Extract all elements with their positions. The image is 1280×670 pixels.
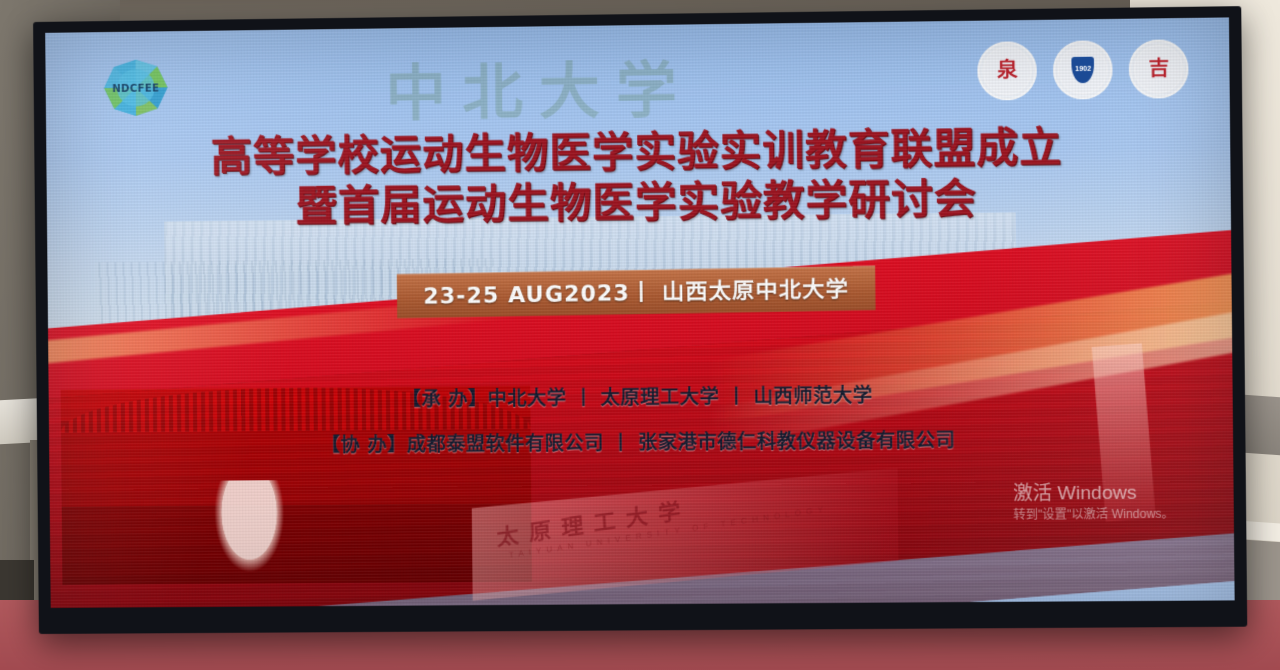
seal-glyph: 1902	[1075, 66, 1091, 73]
seal-glyph: 吉	[1149, 58, 1170, 79]
svg-text:NDCFEE: NDCFEE	[112, 83, 159, 95]
shanxi-normal-university-seal: 吉	[1129, 39, 1189, 98]
ndcfee-logo: NDCFEE	[99, 57, 172, 120]
north-university-of-china-seal: 泉	[977, 41, 1037, 100]
taiyuan-university-of-technology-seal: 1902	[1053, 40, 1113, 99]
conference-hall-photo: 中北大学 太原理工大学 TAIYUAN UNIVERSITY OF TECHNO…	[0, 0, 1280, 670]
slide-title: 高等学校运动生物医学实验实训教育联盟成立 暨首届运动生物医学实验教学研讨会	[46, 119, 1231, 233]
date-location-text: 23-25 AUG2023丨 山西太原中北大学	[423, 277, 849, 309]
date-location-banner: 23-25 AUG2023丨 山西太原中北大学	[397, 265, 876, 317]
display-screen: 中北大学 太原理工大学 TAIYUAN UNIVERSITY OF TECHNO…	[45, 17, 1234, 607]
stone-lion-statue	[213, 480, 284, 573]
organizer-row-coorganizers: 【协 办】成都泰盟软件有限公司 丨 张家港市德仁科教仪器设备有限公司	[49, 415, 1233, 470]
university-seals: 泉 1902 吉	[977, 39, 1189, 100]
organizer-list: 【承 办】中北大学 丨 太原理工大学 丨 山西师范大学 【协 办】成都泰盟软件有…	[49, 370, 1234, 470]
seal-glyph: 泉	[997, 60, 1018, 80]
led-display-panel: 中北大学 太原理工大学 TAIYUAN UNIVERSITY OF TECHNO…	[33, 6, 1247, 634]
campus-sign-watermark: 中北大学	[385, 42, 693, 133]
